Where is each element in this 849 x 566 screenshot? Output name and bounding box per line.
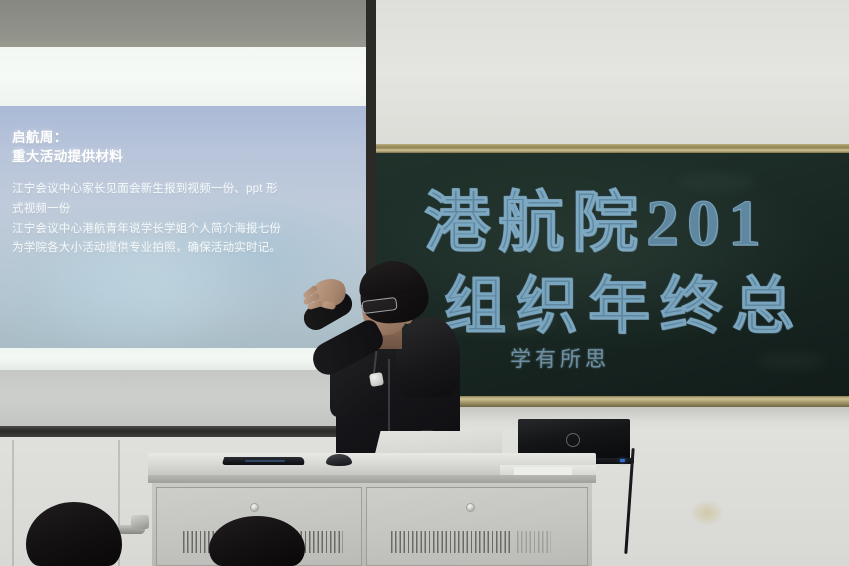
keyboard[interactable]: [222, 457, 307, 465]
mouse[interactable]: [326, 454, 352, 466]
presenter-hood: [396, 317, 460, 397]
slide-body-line-2: 式视频一份: [12, 200, 342, 219]
chalkboard-note: 学有所思: [510, 343, 610, 373]
badge: [369, 372, 384, 387]
bracket-head: [131, 515, 149, 529]
slide-title-line-2: 重大活动提供材料: [12, 147, 342, 166]
slide-text-block: 启航周： 重大活动提供材料 江宁会议中心家长见面会新生报到视频一份、ppt 形 …: [12, 128, 342, 259]
lock-icon[interactable]: [467, 504, 474, 511]
ventilation-slots: [517, 531, 551, 553]
lectern-door-right[interactable]: [366, 487, 588, 566]
wall-stain: [690, 500, 724, 526]
chalkboard-heading-line1: 港航院201: [424, 169, 769, 265]
head: [209, 516, 305, 566]
slide-title-line-1: 启航周：: [12, 128, 342, 147]
slide-body-line-3: 江宁会议中心港航青年说学长学姐个人简介海报七份: [12, 220, 342, 239]
student-head-foreground-left: [18, 500, 130, 566]
screen-top-band: [0, 0, 366, 47]
paper-sheet: [514, 467, 572, 475]
chalk-smudge: [756, 353, 826, 369]
slide-title: 启航周： 重大活动提供材料: [12, 128, 342, 166]
slide-body-line-1: 江宁会议中心家长见面会新生报到视频一份、ppt 形: [12, 180, 342, 199]
wall-seam: [12, 440, 14, 566]
lock-icon[interactable]: [251, 504, 258, 511]
chalkboard-heading-line2: 组织年终总: [444, 255, 804, 345]
head: [26, 502, 122, 566]
classroom-photo: 港航院201 组织年终总 学有所思 启航周： 重大活动提供材料 江宁会议中心家长…: [0, 0, 849, 566]
slide-body-line-4: 为学院各大小活动提供专业拍照，确保活动实时记。: [12, 239, 342, 258]
laptop-status-led-icon: [620, 459, 625, 462]
screen-white-strip: [0, 47, 366, 106]
wall-above-blackboard: [376, 0, 849, 148]
slide-body: 江宁会议中心家长见面会新生报到视频一份、ppt 形 式视频一份 江宁会议中心港航…: [12, 180, 342, 258]
lectern-top-edge: [148, 475, 596, 483]
ventilation-slots: [391, 531, 511, 553]
blackboard-top-trim: [376, 144, 849, 153]
student-head-foreground-right: [205, 514, 309, 566]
